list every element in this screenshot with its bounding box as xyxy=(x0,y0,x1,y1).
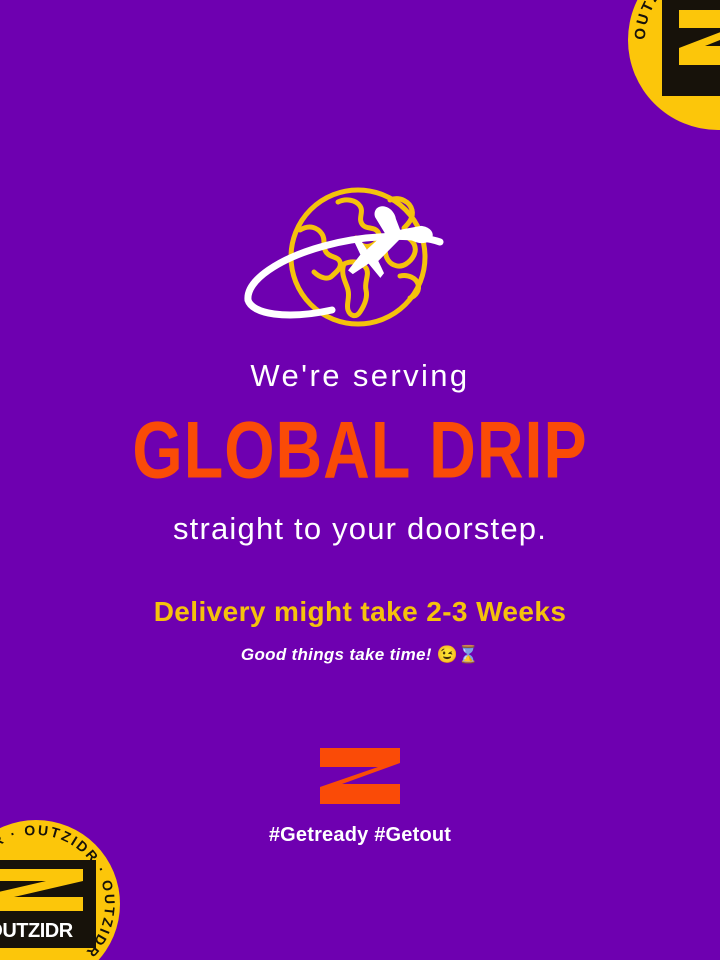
wink-hourglass-emoji: 😉⌛ xyxy=(437,645,479,664)
stamp-core-top-right xyxy=(662,0,720,96)
hashtags-text: #Getready #Getout xyxy=(0,825,720,845)
promo-poster: OUTZIDR · OUTZIDR · OUTZIDR · OUTZIDR · … xyxy=(0,0,720,960)
stamp-core-bottom-left: OUTZIDR xyxy=(0,860,96,948)
globe-airplane-icon xyxy=(240,172,480,342)
stamp-z-mark-bottom-left xyxy=(0,867,86,918)
brand-z-logo xyxy=(320,748,400,809)
stamp-core-word-text: OUTZIDR xyxy=(0,921,73,941)
delivery-estimate-text: Delivery might take 2-3 Weeks xyxy=(0,598,720,626)
delivery-note-text: Good things take time! xyxy=(241,645,432,664)
copy-block: We're serving GLOBAL DRIP straight to yo… xyxy=(0,360,720,663)
footer-lockup: #Getready #Getout xyxy=(0,748,720,845)
stamp-core-word-bottom-left: OUTZIDR xyxy=(0,921,73,941)
eyebrow-text: We're serving xyxy=(0,360,720,391)
stamp-top-right: OUTZIDR · OUTZIDR · OUTZIDR · xyxy=(628,0,720,130)
subhead-text: straight to your doorstep. xyxy=(0,513,720,544)
headline-text: GLOBAL DRIP xyxy=(7,409,713,490)
delivery-note: Good things take time! 😉⌛ xyxy=(0,646,720,663)
stamp-z-mark-top-right xyxy=(675,8,720,73)
